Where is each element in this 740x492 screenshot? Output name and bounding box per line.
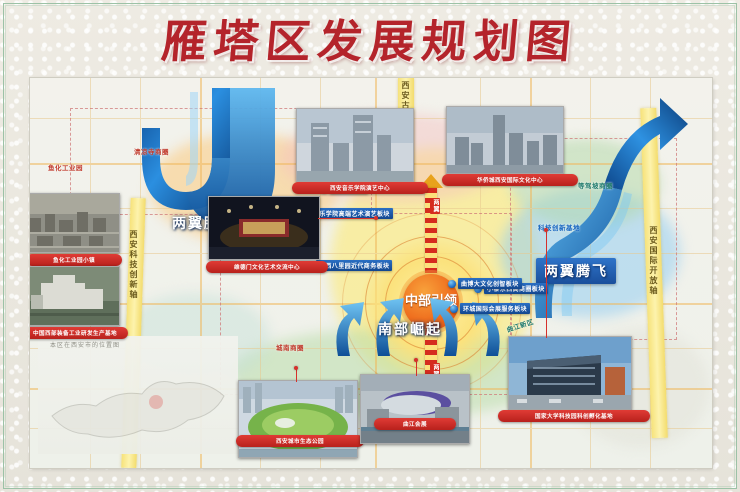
photo-twin-towers-image <box>297 109 413 181</box>
photo-convention[interactable] <box>360 374 470 444</box>
dotlabel-qujiang-culture-text: 曲博大文化创智板块 <box>458 278 522 289</box>
leader-dot-park <box>294 366 298 370</box>
inset-map-shape <box>38 350 238 450</box>
caption-twin-towers: 西安音乐学院演艺中心 <box>292 182 428 194</box>
page-title: 雁塔区发展规划图 <box>159 5 581 70</box>
caption-convention: 曲江会展 <box>374 418 456 430</box>
caption-yanhua-park: 鱼化工业园小镇 <box>30 254 122 266</box>
photo-city-skyline[interactable] <box>446 106 564 174</box>
dotlabel-huancheng-expo[interactable]: 环城国际会展服务板块 <box>450 303 530 314</box>
leader-line-keji <box>546 230 547 338</box>
leader-dot-music <box>374 216 378 220</box>
arealabel-yanhua: 鱼化工业园 <box>48 162 83 172</box>
dotlabel-huancheng-expo-text: 环城国际会展服务板块 <box>460 303 530 314</box>
corridor-tag-upper: 两翼 <box>430 198 440 214</box>
leader-line-music <box>318 218 376 219</box>
leader-dot-conv <box>414 358 418 362</box>
photo-university-park[interactable] <box>508 336 632 410</box>
photo-industrial-base[interactable] <box>30 266 120 326</box>
photo-city-skyline-image <box>447 107 563 173</box>
caption-industrial-base: 中国西部装备工业研发生产基地 <box>30 327 128 339</box>
leader-dot-keji <box>544 228 548 232</box>
arealabel-dengjiapo: 等驾坡商圈 <box>578 180 613 190</box>
arealabel-qingliang: 清凉寺商圈 <box>134 146 169 156</box>
inset-locator-map: 本区在西安市的位置图 <box>38 336 238 454</box>
photo-yanhua-park-image <box>30 194 119 252</box>
title-area: 雁塔区发展规划图 <box>0 6 740 68</box>
photo-music-venue[interactable] <box>208 196 320 260</box>
caption-music-venue: 维德门文化艺术交流中心 <box>206 261 328 273</box>
map-panel: 西安科技创新轴 西安古都文化传承轴 西安国际开放轴 两翼 一轴 两翼 中部引领 <box>30 78 712 468</box>
slogan-right-wing: 两翼腾飞 <box>536 258 616 284</box>
leader-line-park <box>296 368 297 382</box>
photo-twin-towers[interactable] <box>296 108 414 182</box>
caption-university-park: 国家大学科技园科创孵化基地 <box>498 410 650 422</box>
photo-industrial-base-image <box>30 267 119 325</box>
photo-convention-image <box>361 375 469 443</box>
leader-line-conv <box>416 360 417 376</box>
map-pin-icon <box>448 280 456 288</box>
photo-music-venue-image <box>209 197 319 259</box>
dotlabel-qujiang-culture[interactable]: 曲博大文化创智板块 <box>448 278 522 289</box>
photo-university-park-image <box>509 337 631 409</box>
inset-map-title: 本区在西安市的位置图 <box>50 340 120 349</box>
poster-root: 雁塔区发展规划图 <box>0 0 740 492</box>
slogan-south-rise: 南部崛起 <box>370 316 450 342</box>
photo-yanhua-park[interactable] <box>30 193 120 253</box>
arealabel-chengnan: 城南商圈 <box>276 342 304 352</box>
caption-city-skyline: 华侨城西安国际文化中心 <box>442 174 578 186</box>
caption-green-park: 西安城市生态公园 <box>236 435 364 447</box>
map-pin-icon <box>450 305 458 313</box>
